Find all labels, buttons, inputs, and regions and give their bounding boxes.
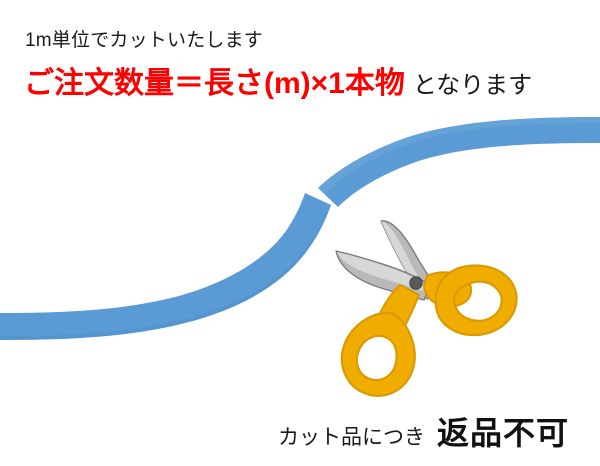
footer-notice: カット品につき返品不可: [278, 414, 569, 459]
footer-notice-prefix: カット品につき: [278, 426, 425, 449]
scissors-group: [336, 221, 517, 396]
headline-line-1: 1m単位でカットいたします: [25, 29, 263, 52]
headline-line-2: ご注文数量＝長さ(m)×1本物となります: [24, 67, 532, 106]
footer-notice-emphasis: 返品不可: [437, 415, 569, 451]
scissors-handle-loop-lower: [342, 313, 415, 396]
scissors-pivot-screw: [410, 277, 422, 289]
blue-cable-left-segment: [0, 193, 331, 340]
scissors-handle-loop-upper: [436, 266, 517, 336]
headline-formula-red: ご注文数量＝長さ(m)×1本物: [24, 67, 405, 100]
poster-canvas: 1m単位でカットいたします ご注文数量＝長さ(m)×1本物となります カット品に…: [0, 0, 600, 466]
blue-cable-right-segment: [318, 117, 600, 207]
headline-suffix-black: となります: [413, 72, 532, 99]
